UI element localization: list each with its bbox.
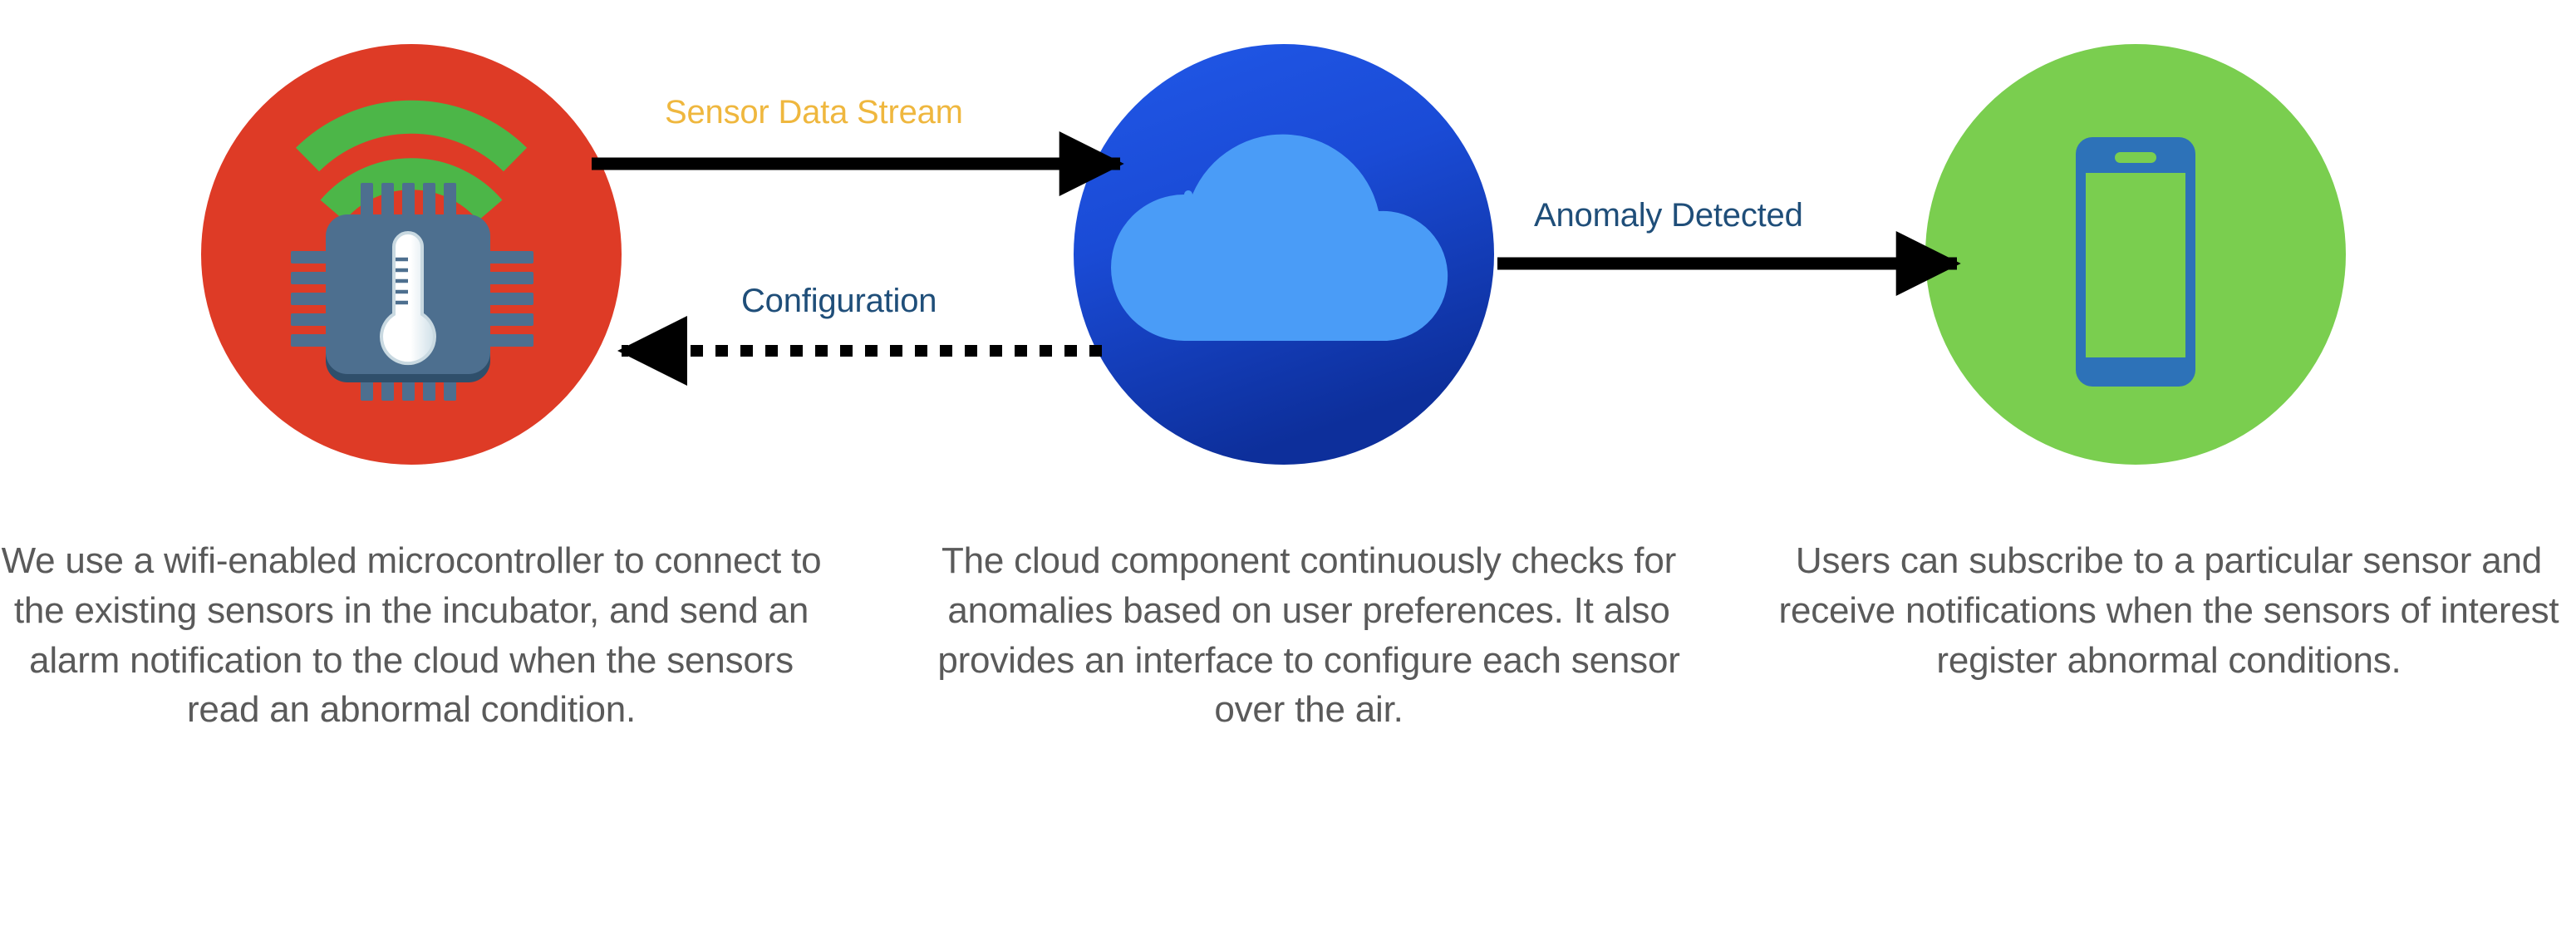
node-device[interactable] bbox=[201, 44, 622, 465]
mobile-phone-icon bbox=[2076, 137, 2195, 387]
node-cloud[interactable] bbox=[1074, 44, 1494, 465]
edge-label-configuration: Configuration bbox=[741, 283, 937, 320]
node-users[interactable] bbox=[1925, 44, 2346, 465]
caption-users: Users can subscribe to a particular sens… bbox=[1774, 536, 2564, 685]
diagram-canvas: Sensor Data Stream Configuration Anomaly… bbox=[0, 0, 2576, 936]
edge-label-sensor-data-stream: Sensor Data Stream bbox=[665, 94, 963, 131]
caption-cloud: The cloud component continuously checks … bbox=[922, 536, 1695, 735]
diagram-graphics bbox=[0, 0, 2576, 936]
caption-device: We use a wifi-enabled microcontroller to… bbox=[0, 536, 823, 735]
edge-label-anomaly-detected: Anomaly Detected bbox=[1534, 197, 1803, 234]
